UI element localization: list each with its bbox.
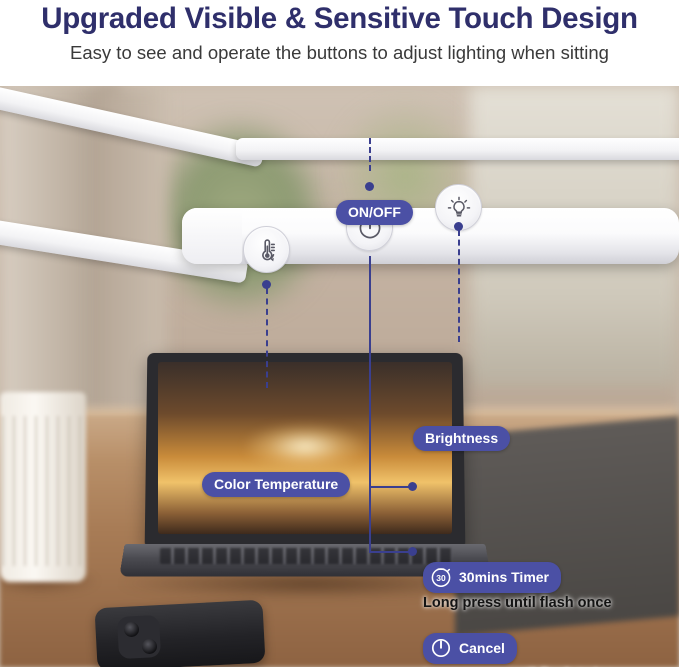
mug-ribbing bbox=[2, 416, 82, 566]
bulb-icon bbox=[445, 194, 473, 222]
leader-dot-cancel bbox=[408, 547, 417, 556]
leader-brightness bbox=[458, 230, 460, 342]
callout-timer-note: Long press until flash once bbox=[423, 595, 612, 611]
power-icon bbox=[430, 637, 452, 659]
callout-color-temperature-label: Color Temperature bbox=[214, 476, 338, 492]
product-infographic: Upgraded Visible & Sensitive Touch Desig… bbox=[0, 0, 679, 667]
leader-dot-brightness bbox=[454, 222, 463, 231]
page-subtitle: Easy to see and operate the buttons to a… bbox=[0, 40, 679, 66]
callout-timer: 30 30mins Timer bbox=[423, 562, 561, 593]
lamp-light-bar-cap bbox=[182, 208, 242, 264]
camera-lens-icon bbox=[124, 622, 139, 637]
callout-onoff-label: ON/OFF bbox=[348, 204, 401, 220]
header-block: Upgraded Visible & Sensitive Touch Desig… bbox=[0, 0, 679, 86]
callout-cancel: Cancel bbox=[423, 633, 517, 664]
leader-onoff-top bbox=[369, 138, 371, 171]
product-photo: ON/OFF Brightness Color Temperature 30 3… bbox=[0, 86, 679, 667]
camera-lens-icon bbox=[142, 639, 157, 654]
page-title: Upgraded Visible & Sensitive Touch Desig… bbox=[0, 0, 679, 38]
callout-onoff: ON/OFF bbox=[336, 200, 413, 225]
callout-timer-label: 30mins Timer bbox=[459, 569, 549, 585]
thermometer-icon bbox=[253, 236, 281, 264]
leader-cancel-horizontal bbox=[369, 551, 413, 553]
callout-brightness-label: Brightness bbox=[425, 430, 498, 446]
timer-30-icon: 30 bbox=[430, 566, 452, 588]
leader-timer-horizontal bbox=[369, 486, 413, 488]
leader-timer-vertical bbox=[369, 256, 371, 551]
callout-cancel-label: Cancel bbox=[459, 640, 505, 656]
callout-color-temperature: Color Temperature bbox=[202, 472, 350, 497]
leader-dot-onoff bbox=[365, 182, 374, 191]
leader-dot-timer bbox=[408, 482, 417, 491]
leader-temperature bbox=[266, 288, 268, 388]
color-temperature-button[interactable] bbox=[243, 226, 290, 273]
lamp-arm-upper-right bbox=[236, 138, 679, 160]
callout-brightness: Brightness bbox=[413, 426, 510, 451]
leader-dot-temperature bbox=[262, 280, 271, 289]
laptop-wallpaper bbox=[158, 362, 452, 534]
smartphone-camera-module bbox=[117, 615, 161, 659]
svg-text:30: 30 bbox=[436, 573, 446, 583]
